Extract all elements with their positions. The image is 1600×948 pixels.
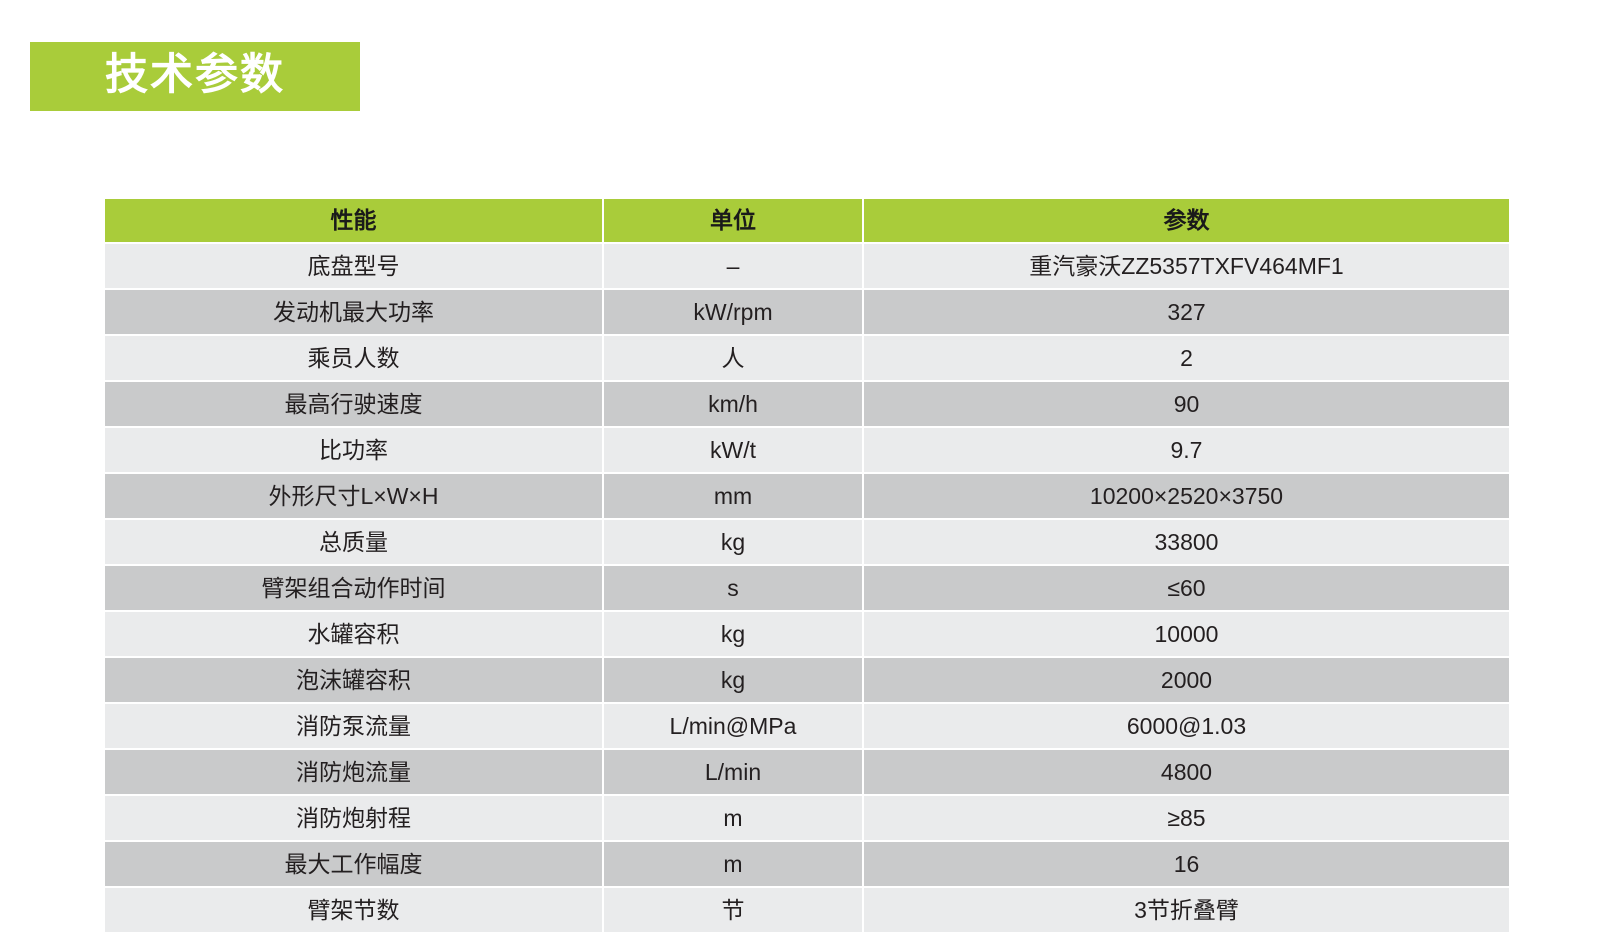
cell-parameter: 重汽豪沃ZZ5357TXFV464MF1 <box>864 244 1509 288</box>
cell-performance: 消防炮流量 <box>105 750 602 794</box>
cell-unit: kg <box>604 658 862 702</box>
cell-performance: 消防泵流量 <box>105 704 602 748</box>
cell-performance: 最高行驶速度 <box>105 382 602 426</box>
cell-parameter: 33800 <box>864 520 1509 564</box>
cell-unit: s <box>604 566 862 610</box>
cell-unit: m <box>604 796 862 840</box>
cell-parameter: ≤60 <box>864 566 1509 610</box>
cell-unit: km/h <box>604 382 862 426</box>
cell-unit: kW/t <box>604 428 862 472</box>
cell-parameter: ≥85 <box>864 796 1509 840</box>
cell-performance: 外形尺寸L×W×H <box>105 474 602 518</box>
cell-performance: 比功率 <box>105 428 602 472</box>
cell-performance: 底盘型号 <box>105 244 602 288</box>
column-header-parameter: 参数 <box>864 199 1509 242</box>
table-row: 臂架节数节3节折叠臂 <box>105 888 1509 932</box>
cell-unit: mm <box>604 474 862 518</box>
cell-unit: L/min <box>604 750 862 794</box>
cell-parameter: 4800 <box>864 750 1509 794</box>
technical-parameters-table: 性能 单位 参数 底盘型号–重汽豪沃ZZ5357TXFV464MF1发动机最大功… <box>105 199 1509 932</box>
cell-unit: 人 <box>604 336 862 380</box>
cell-parameter: 327 <box>864 290 1509 334</box>
cell-parameter: 2 <box>864 336 1509 380</box>
cell-unit: kg <box>604 612 862 656</box>
page-title: 技术参数 <box>105 54 285 99</box>
cell-parameter: 90 <box>864 382 1509 426</box>
cell-unit: 节 <box>604 888 862 932</box>
cell-performance: 总质量 <box>105 520 602 564</box>
cell-performance: 消防炮射程 <box>105 796 602 840</box>
cell-performance: 乘员人数 <box>105 336 602 380</box>
cell-parameter: 16 <box>864 842 1509 886</box>
table-row: 外形尺寸L×W×Hmm10200×2520×3750 <box>105 474 1509 518</box>
cell-parameter: 10000 <box>864 612 1509 656</box>
cell-unit: m <box>604 842 862 886</box>
table-header-row: 性能 单位 参数 <box>105 199 1509 242</box>
cell-parameter: 3节折叠臂 <box>864 888 1509 932</box>
cell-performance: 臂架组合动作时间 <box>105 566 602 610</box>
cell-performance: 水罐容积 <box>105 612 602 656</box>
cell-performance: 臂架节数 <box>105 888 602 932</box>
cell-parameter: 2000 <box>864 658 1509 702</box>
table-row: 发动机最大功率kW/rpm327 <box>105 290 1509 334</box>
cell-performance: 最大工作幅度 <box>105 842 602 886</box>
table-row: 消防泵流量L/min@MPa6000@1.03 <box>105 704 1509 748</box>
column-header-unit: 单位 <box>604 199 862 242</box>
table-row: 水罐容积kg10000 <box>105 612 1509 656</box>
table-row: 最高行驶速度km/h90 <box>105 382 1509 426</box>
table-row: 总质量kg33800 <box>105 520 1509 564</box>
cell-unit: kW/rpm <box>604 290 862 334</box>
page-title-banner: 技术参数 <box>30 42 360 111</box>
table-row: 泡沫罐容积kg2000 <box>105 658 1509 702</box>
cell-unit: kg <box>604 520 862 564</box>
cell-parameter: 6000@1.03 <box>864 704 1509 748</box>
table-row: 乘员人数人2 <box>105 336 1509 380</box>
table-row: 底盘型号–重汽豪沃ZZ5357TXFV464MF1 <box>105 244 1509 288</box>
cell-performance: 发动机最大功率 <box>105 290 602 334</box>
cell-unit: – <box>604 244 862 288</box>
table-row: 消防炮射程m≥85 <box>105 796 1509 840</box>
cell-parameter: 10200×2520×3750 <box>864 474 1509 518</box>
table-row: 比功率kW/t9.7 <box>105 428 1509 472</box>
column-header-performance: 性能 <box>105 199 602 242</box>
cell-unit: L/min@MPa <box>604 704 862 748</box>
table-row: 消防炮流量L/min4800 <box>105 750 1509 794</box>
cell-performance: 泡沫罐容积 <box>105 658 602 702</box>
table-body: 底盘型号–重汽豪沃ZZ5357TXFV464MF1发动机最大功率kW/rpm32… <box>105 244 1509 932</box>
table-row: 臂架组合动作时间s≤60 <box>105 566 1509 610</box>
table-row: 最大工作幅度m16 <box>105 842 1509 886</box>
cell-parameter: 9.7 <box>864 428 1509 472</box>
